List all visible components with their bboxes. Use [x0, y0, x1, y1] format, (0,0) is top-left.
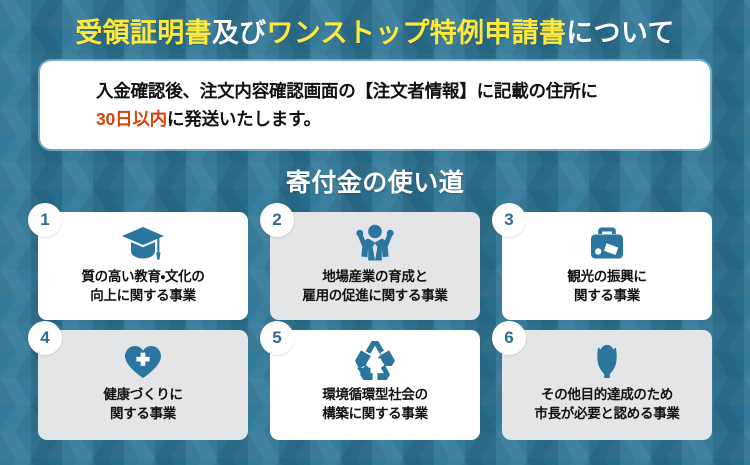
page-title-part-4: について	[566, 18, 674, 48]
donation-usage-card-grid: 1 質の高い教育・文化の 向上に関する事業 2	[38, 212, 712, 440]
usage-card-5-label-line2: 構築に関する事業	[322, 404, 428, 423]
notice-line-2: 30日以内に発送いたします。	[96, 105, 710, 133]
page-title-part-3: ワンストップ特例申請書	[266, 18, 566, 48]
usage-card-6-label-line2: 市長が必要と認める事業	[534, 404, 679, 423]
graduation-cap-icon	[121, 221, 165, 265]
page-title-part-2: 及び	[212, 18, 267, 48]
recycle-icon	[353, 339, 397, 383]
usage-card-2: 2 地場産業の育成と 雇用の促進に関する事業	[270, 212, 480, 320]
usage-card-3: 3 観光の振興に 関する事業	[502, 212, 712, 320]
notice-deadline-highlight: 30日以内	[96, 109, 167, 129]
section-heading: 寄付金の使い道	[0, 163, 750, 199]
usage-card-2-label-line1: 地場産業の育成と	[322, 267, 428, 286]
person-sprout-icon	[585, 339, 629, 383]
usage-card-1-label-line1: 質の高い教育・文化の	[81, 267, 204, 286]
usage-card-2-number-badge: 2	[260, 203, 294, 237]
usage-card-1-number-badge: 1	[28, 203, 62, 237]
usage-card-3-label-line2: 関する事業	[574, 286, 640, 305]
usage-card-1: 1 質の高い教育・文化の 向上に関する事業	[38, 212, 248, 320]
page-title: 受領証明書及びワンストップ特例申請書について	[0, 12, 750, 54]
suitcase-icon	[585, 221, 629, 265]
usage-card-6: 6 その他目的達成のため 市長が必要と認める事業	[502, 330, 712, 440]
person-raised-arms-icon	[353, 221, 397, 265]
notice-line-2-rest: に発送いたします。	[167, 109, 321, 129]
notice-line-1: 入金確認後、注文内容確認画面の【注文者情報】に記載の住所に	[96, 77, 710, 105]
usage-card-3-number-badge: 3	[492, 203, 526, 237]
infographic-stage: 受領証明書及びワンストップ特例申請書について 入金確認後、注文内容確認画面の【注…	[0, 0, 750, 465]
usage-card-5-number-badge: 5	[260, 321, 294, 355]
usage-card-6-label-line1: その他目的達成のため	[541, 385, 673, 404]
notice-card: 入金確認後、注文内容確認画面の【注文者情報】に記載の住所に 30日以内に発送いた…	[40, 61, 710, 149]
heart-plus-icon	[121, 339, 165, 383]
usage-card-2-label-line2: 雇用の促進に関する事業	[302, 286, 447, 305]
usage-card-4-number-badge: 4	[28, 321, 62, 355]
usage-card-3-label-line1: 観光の振興に	[567, 267, 646, 286]
usage-card-5-label-line1: 環境循環型社会の	[322, 385, 428, 404]
usage-card-4-label-line2: 関する事業	[110, 404, 176, 423]
page-title-part-1: 受領証明書	[75, 18, 212, 48]
usage-card-4: 4 健康づくりに 関する事業	[38, 330, 248, 440]
usage-card-6-number-badge: 6	[492, 321, 526, 355]
usage-card-5: 5 環境循環型社会の 構築に関する事業	[270, 330, 480, 440]
usage-card-4-label-line1: 健康づくりに	[103, 385, 182, 404]
usage-card-1-label-line2: 向上に関する事業	[90, 286, 196, 305]
page-title-text: 受領証明書及びワンストップ特例申請書について	[75, 20, 674, 47]
